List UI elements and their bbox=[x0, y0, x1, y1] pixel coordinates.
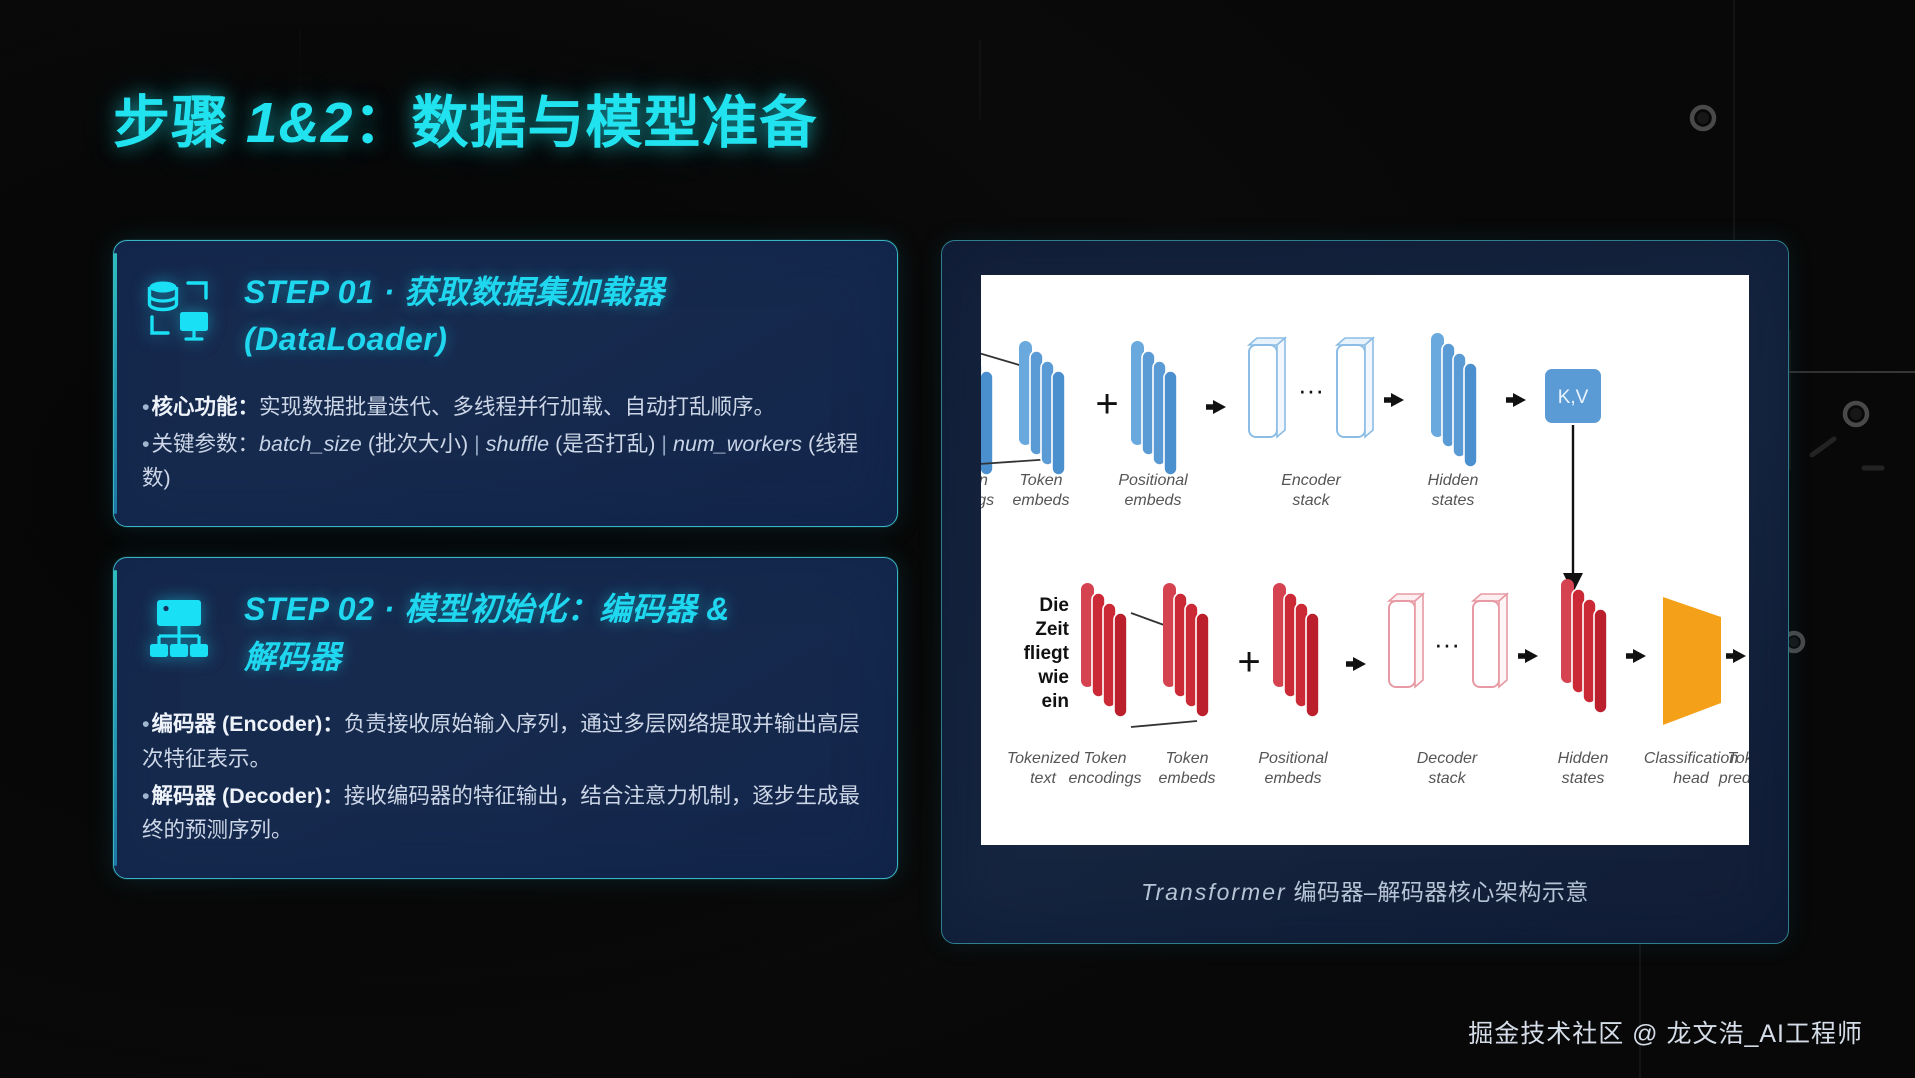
step-card-01-body: •核心功能：实现数据批量迭代、多线程并行加载、自动打乱顺序。 •关键参数：bat… bbox=[142, 390, 867, 496]
bullet-label: 编码器 (Encoder)： bbox=[152, 712, 344, 736]
step-card-02-head: STEP 02 · 模型初始化：编码器 & 解码器 bbox=[142, 582, 867, 681]
svg-text:Positional: Positional bbox=[1258, 750, 1328, 767]
svg-text:ein: ein bbox=[1042, 691, 1069, 712]
step-card-01-head: STEP 01 · 获取数据集加载器 (DataLoader) bbox=[142, 265, 867, 364]
svg-text:text: text bbox=[1030, 770, 1056, 787]
svg-text:Hidden: Hidden bbox=[1558, 750, 1609, 767]
step-card-02-bullet-2: •解码器 (Decoder)：接收编码器的特征输出，结合注意力机制，逐步生成最终… bbox=[142, 779, 867, 849]
svg-text:dings: dings bbox=[981, 492, 994, 509]
svg-text:embeds: embeds bbox=[1159, 770, 1216, 787]
figure-panel: + ··· bbox=[941, 240, 1789, 944]
step-card-01[interactable]: STEP 01 · 获取数据集加载器 (DataLoader) •核心功能：实现… bbox=[113, 240, 898, 527]
svg-text:ken: ken bbox=[981, 472, 988, 489]
bullet-label: 关键参数： bbox=[152, 432, 260, 456]
step-card-01-bullet-1: •核心功能：实现数据批量迭代、多线程并行加载、自动打乱顺序。 bbox=[142, 390, 867, 425]
svg-text:···: ··· bbox=[1298, 375, 1324, 405]
bullet-marker: • bbox=[142, 712, 150, 736]
step-card-01-title-line1: STEP 01 · 获取数据集加载器 bbox=[244, 269, 664, 316]
svg-text:states: states bbox=[1562, 770, 1605, 787]
svg-text:fliegt: fliegt bbox=[1024, 643, 1070, 664]
bullet-label: 解码器 (Decoder)： bbox=[152, 784, 344, 808]
param-batch-size: batch_size bbox=[259, 432, 362, 456]
param-shuffle-note: (是否打乱) bbox=[555, 432, 655, 456]
step-card-01-title: STEP 01 · 获取数据集加载器 (DataLoader) bbox=[244, 265, 664, 364]
svg-text:stack: stack bbox=[1292, 492, 1330, 509]
model-hierarchy-icon bbox=[142, 588, 216, 662]
figure-caption-cn: 编码器–解码器核心架构示意 bbox=[1287, 879, 1589, 905]
param-separator: | bbox=[655, 432, 673, 456]
bullet-label: 核心功能： bbox=[152, 395, 260, 419]
database-monitor-icon bbox=[142, 271, 216, 345]
slide-root: 步骤 1&2：数据与模型准备 bbox=[0, 0, 1915, 1078]
page-title-number: 1&2 bbox=[246, 91, 354, 155]
step-card-02-title-line1: STEP 02 · 模型初始化：编码器 & bbox=[244, 586, 730, 633]
bullet-marker: • bbox=[142, 395, 150, 419]
figure-caption-en: Transformer bbox=[1141, 879, 1287, 905]
svg-text:Token: Token bbox=[1084, 750, 1127, 767]
page-title-suffix: ：数据与模型准备 bbox=[353, 91, 817, 155]
step-card-02-bullet-1: •编码器 (Encoder)：负责接收原始输入序列，通过多层网络提取并输出高层次… bbox=[142, 707, 867, 777]
bullet-text: 实现数据批量迭代、多线程并行加载、自动打乱顺序。 bbox=[259, 395, 775, 419]
step-card-01-title-line2: (DataLoader) bbox=[244, 316, 664, 363]
svg-text:K,V: K,V bbox=[1558, 387, 1589, 408]
svg-text:Tokenized: Tokenized bbox=[1007, 750, 1080, 767]
svg-text:Positional: Positional bbox=[1118, 472, 1188, 489]
svg-text:Zeit: Zeit bbox=[1035, 619, 1069, 640]
bullet-marker: • bbox=[142, 432, 150, 456]
footer-credit: 掘金技术社区 @ 龙文浩_AI工程师 bbox=[1468, 1014, 1863, 1050]
svg-text:Hidden: Hidden bbox=[1428, 472, 1479, 489]
svg-text:wie: wie bbox=[1037, 667, 1069, 688]
step-card-02-body: •编码器 (Encoder)：负责接收原始输入序列，通过多层网络提取并输出高层次… bbox=[142, 707, 867, 848]
step-card-01-bullet-2: •关键参数：batch_size (批次大小)|shuffle (是否打乱)|n… bbox=[142, 427, 867, 497]
svg-text:···: ··· bbox=[1434, 629, 1460, 659]
svg-text:head: head bbox=[1673, 770, 1710, 787]
svg-text:predictio: predictio bbox=[1718, 770, 1749, 787]
svg-text:embeds: embeds bbox=[1265, 770, 1322, 787]
step-card-02-title: STEP 02 · 模型初始化：编码器 & 解码器 bbox=[244, 582, 730, 681]
page-title-prefix: 步骤 bbox=[113, 91, 246, 155]
param-num-workers: num_workers bbox=[673, 432, 802, 456]
svg-text:Token: Token bbox=[1020, 472, 1063, 489]
svg-text:+: + bbox=[1237, 640, 1260, 684]
svg-text:+: + bbox=[1095, 382, 1118, 426]
svg-text:encodings: encodings bbox=[1069, 770, 1142, 787]
svg-text:embeds: embeds bbox=[1013, 492, 1070, 509]
svg-text:embeds: embeds bbox=[1125, 492, 1182, 509]
svg-text:Token: Token bbox=[1166, 750, 1209, 767]
param-shuffle: shuffle bbox=[486, 432, 549, 456]
bullet-marker: • bbox=[142, 784, 150, 808]
svg-text:Decoder: Decoder bbox=[1417, 750, 1478, 767]
param-batch-size-note: (批次大小) bbox=[368, 432, 468, 456]
svg-text:states: states bbox=[1432, 492, 1475, 509]
steps-column: STEP 01 · 获取数据集加载器 (DataLoader) •核心功能：实现… bbox=[113, 240, 898, 879]
step-card-02[interactable]: STEP 02 · 模型初始化：编码器 & 解码器 •编码器 (Encoder)… bbox=[113, 557, 898, 879]
svg-text:Token: Token bbox=[1728, 750, 1750, 767]
svg-text:Encoder: Encoder bbox=[1281, 472, 1341, 489]
svg-text:Classification: Classification bbox=[1644, 750, 1738, 767]
page-title: 步骤 1&2：数据与模型准备 bbox=[113, 88, 817, 159]
param-separator: | bbox=[468, 432, 486, 456]
figure-caption: Transformer 编码器–解码器核心架构示意 bbox=[1141, 873, 1589, 907]
transformer-architecture-diagram: + ··· bbox=[981, 275, 1749, 845]
svg-text:Die: Die bbox=[1039, 595, 1069, 616]
svg-text:stack: stack bbox=[1428, 770, 1466, 787]
step-card-02-title-line2: 解码器 bbox=[244, 634, 730, 681]
